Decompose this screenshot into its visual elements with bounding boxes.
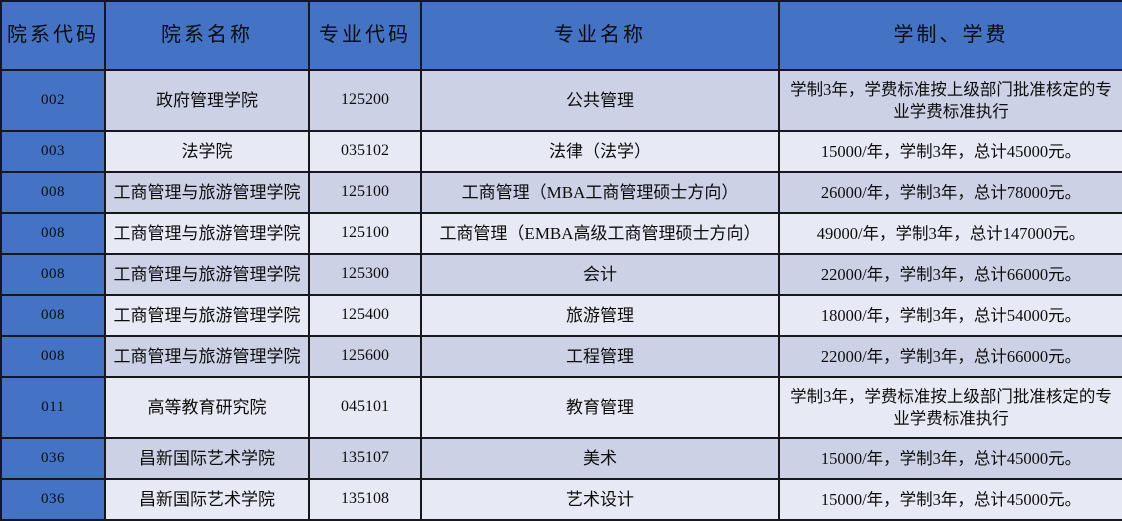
cell-tuition: 15000/年，学制3年，总计45000元。 [779, 479, 1122, 520]
table-row: 008工商管理与旅游管理学院125300会计22000/年，学制3年，总计660… [1, 254, 1122, 295]
table-row: 036昌新国际艺术学院135108艺术设计15000/年，学制3年，总计4500… [1, 479, 1122, 520]
cell-tuition: 18000/年，学制3年，总计54000元。 [779, 295, 1122, 336]
table-row: 003法学院035102法律（法学）15000/年，学制3年，总计45000元。 [1, 131, 1122, 172]
cell-major-name: 法律（法学） [421, 131, 779, 172]
cell-dept-name: 工商管理与旅游管理学院 [105, 213, 309, 254]
cell-major-code: 045101 [309, 377, 421, 438]
table-header-row: 院系代码 院系名称 专业代码 专业名称 学制、学费 [1, 1, 1122, 70]
cell-major-code: 125300 [309, 254, 421, 295]
table-row: 036昌新国际艺术学院135107美术15000/年，学制3年，总计45000元… [1, 438, 1122, 479]
cell-major-code: 135108 [309, 479, 421, 520]
column-header-dept-name: 院系名称 [105, 1, 309, 70]
table-body: 002政府管理学院125200公共管理学制3年，学费标准按上级部门批准核定的专业… [1, 70, 1122, 520]
column-header-dept-code: 院系代码 [1, 1, 105, 70]
table-row: 008工商管理与旅游管理学院125600工程管理22000/年，学制3年，总计6… [1, 336, 1122, 377]
cell-tuition: 49000/年，学制3年，总计147000元。 [779, 213, 1122, 254]
cell-dept-name: 法学院 [105, 131, 309, 172]
cell-tuition: 学制3年，学费标准按上级部门批准核定的专业学费标准执行 [779, 377, 1122, 438]
cell-tuition: 15000/年，学制3年，总计45000元。 [779, 438, 1122, 479]
cell-major-name: 工商管理（EMBA高级工商管理硕士方向） [421, 213, 779, 254]
cell-major-code: 125600 [309, 336, 421, 377]
table-row: 008工商管理与旅游管理学院125100工商管理（EMBA高级工商管理硕士方向）… [1, 213, 1122, 254]
cell-tuition: 学制3年，学费标准按上级部门批准核定的专业学费标准执行 [779, 70, 1122, 131]
cell-major-name: 工程管理 [421, 336, 779, 377]
cell-major-code: 135107 [309, 438, 421, 479]
table-row: 008工商管理与旅游管理学院125400旅游管理18000/年，学制3年，总计5… [1, 295, 1122, 336]
cell-dept-code: 008 [1, 213, 105, 254]
cell-dept-code: 011 [1, 377, 105, 438]
cell-dept-name: 昌新国际艺术学院 [105, 438, 309, 479]
table-row: 011高等教育研究院045101教育管理学制3年，学费标准按上级部门批准核定的专… [1, 377, 1122, 438]
cell-major-name: 公共管理 [421, 70, 779, 131]
cell-major-code: 125400 [309, 295, 421, 336]
cell-dept-name: 工商管理与旅游管理学院 [105, 336, 309, 377]
cell-dept-code: 003 [1, 131, 105, 172]
cell-major-name: 会计 [421, 254, 779, 295]
cell-dept-code: 008 [1, 254, 105, 295]
cell-major-name: 教育管理 [421, 377, 779, 438]
cell-major-name: 艺术设计 [421, 479, 779, 520]
cell-tuition: 26000/年，学制3年，总计78000元。 [779, 172, 1122, 213]
cell-dept-name: 工商管理与旅游管理学院 [105, 172, 309, 213]
table-header: 院系代码 院系名称 专业代码 专业名称 学制、学费 [1, 1, 1122, 70]
cell-dept-name: 工商管理与旅游管理学院 [105, 295, 309, 336]
cell-dept-code: 008 [1, 295, 105, 336]
cell-tuition: 22000/年，学制3年，总计66000元。 [779, 254, 1122, 295]
cell-tuition: 22000/年，学制3年，总计66000元。 [779, 336, 1122, 377]
cell-major-code: 125100 [309, 213, 421, 254]
cell-major-name: 旅游管理 [421, 295, 779, 336]
cell-dept-code: 002 [1, 70, 105, 131]
cell-major-code: 125200 [309, 70, 421, 131]
cell-major-name: 工商管理（MBA工商管理硕士方向） [421, 172, 779, 213]
cell-dept-code: 008 [1, 172, 105, 213]
cell-dept-code: 036 [1, 438, 105, 479]
table-row: 002政府管理学院125200公共管理学制3年，学费标准按上级部门批准核定的专业… [1, 70, 1122, 131]
cell-dept-name: 工商管理与旅游管理学院 [105, 254, 309, 295]
cell-dept-name: 政府管理学院 [105, 70, 309, 131]
column-header-tuition: 学制、学费 [779, 1, 1122, 70]
cell-dept-code: 008 [1, 336, 105, 377]
cell-tuition: 15000/年，学制3年，总计45000元。 [779, 131, 1122, 172]
cell-major-name: 美术 [421, 438, 779, 479]
cell-dept-name: 昌新国际艺术学院 [105, 479, 309, 520]
cell-major-code: 035102 [309, 131, 421, 172]
cell-dept-name: 高等教育研究院 [105, 377, 309, 438]
tuition-table: 院系代码 院系名称 专业代码 专业名称 学制、学费 002政府管理学院12520… [0, 0, 1122, 521]
cell-dept-code: 036 [1, 479, 105, 520]
column-header-major-code: 专业代码 [309, 1, 421, 70]
cell-major-code: 125100 [309, 172, 421, 213]
table-row: 008工商管理与旅游管理学院125100工商管理（MBA工商管理硕士方向）260… [1, 172, 1122, 213]
column-header-major-name: 专业名称 [421, 1, 779, 70]
